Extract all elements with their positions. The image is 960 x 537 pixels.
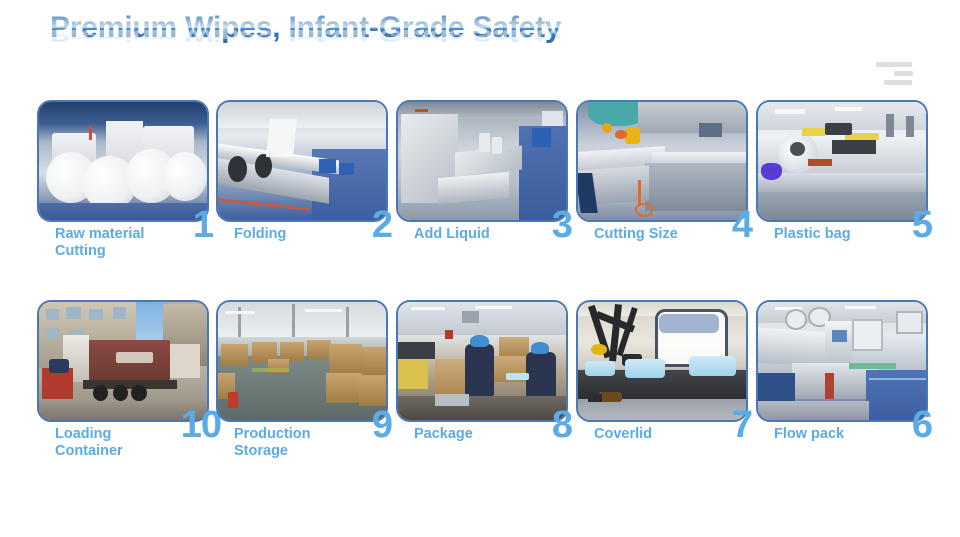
process-card-number: 8	[552, 406, 572, 444]
production-storage-photo	[216, 300, 388, 422]
process-card-number: 6	[912, 406, 932, 444]
menu-bar-bottom	[884, 80, 912, 85]
process-card-1[interactable]: Raw material Cutting 1	[37, 100, 209, 260]
process-card-9[interactable]: Production Storage 9	[216, 300, 388, 460]
process-card-3[interactable]: Add Liquid 3	[396, 100, 568, 260]
process-card-number: 3	[552, 206, 572, 244]
process-card-number: 5	[912, 206, 932, 244]
menu-bar-top	[876, 62, 912, 67]
add-liquid-machine-photo	[396, 100, 568, 222]
process-card-4[interactable]: Cutting Size 4	[576, 100, 748, 260]
process-card-10[interactable]: Loading Container 10	[37, 300, 209, 460]
page-title: Premium Wipes, Infant-Grade Safety	[50, 8, 750, 48]
hamburger-menu-icon[interactable]	[876, 62, 918, 88]
cutting-size-machine-photo	[576, 100, 748, 222]
process-card-number: 9	[372, 406, 392, 444]
process-card-number: 7	[732, 406, 752, 444]
raw-material-cutting-photo	[37, 100, 209, 222]
process-card-7[interactable]: Coverlid 7	[576, 300, 748, 460]
process-card-8[interactable]: Package 8	[396, 300, 568, 460]
process-card-number: 1	[193, 206, 213, 244]
process-card-number: 4	[732, 206, 752, 244]
page-title-block: Premium Wipes, Infant-Grade Safety Premi…	[50, 8, 750, 64]
folding-conveyor-photo	[216, 100, 388, 222]
process-card-label: Plastic bag	[774, 226, 960, 243]
process-card-number: 2	[372, 206, 392, 244]
menu-bar-middle	[894, 71, 913, 76]
process-card-number: 10	[181, 406, 221, 444]
process-card-6[interactable]: Flow pack 6	[756, 300, 928, 460]
coverlid-robot-photo	[576, 300, 748, 422]
package-workers-photo	[396, 300, 568, 422]
process-row-top: Raw material Cutting 1 Folding 2	[0, 100, 960, 300]
process-card-2[interactable]: Folding 2	[216, 100, 388, 260]
process-card-label: Flow pack	[774, 426, 960, 443]
process-row-bottom: Loading Container 10	[0, 300, 960, 500]
process-card-5[interactable]: Plastic bag 5	[756, 100, 928, 260]
flow-pack-machine-photo	[756, 300, 928, 422]
plastic-bag-machine-photo	[756, 100, 928, 222]
